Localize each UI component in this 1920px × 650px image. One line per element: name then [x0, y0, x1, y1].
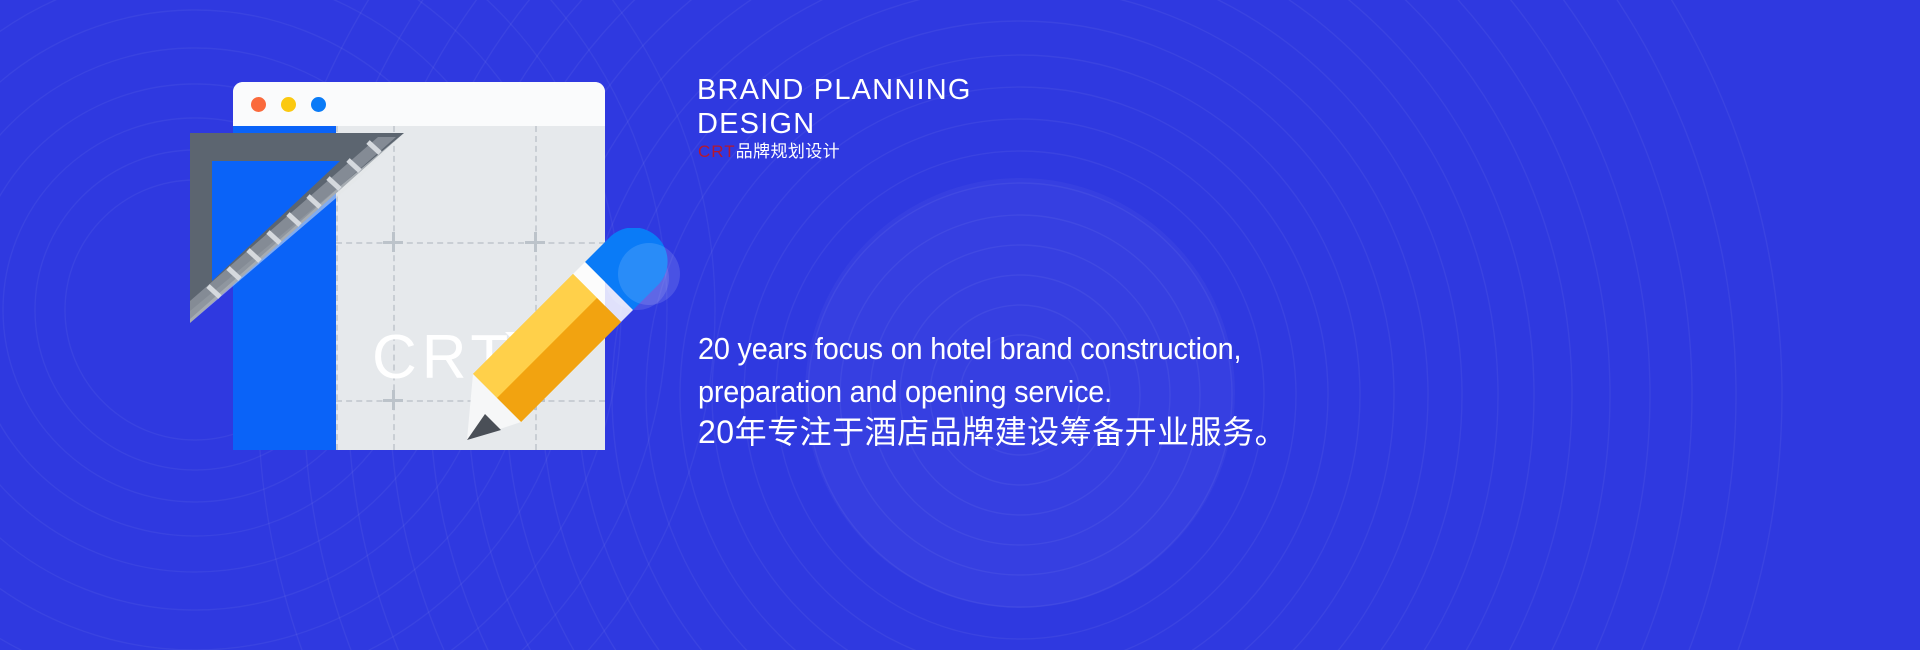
window-close-dot-icon[interactable]	[251, 97, 266, 112]
brand-design-illustration: CRT	[0, 0, 700, 650]
window-maximize-dot-icon[interactable]	[311, 97, 326, 112]
page-title: BRAND PLANNING DESIGN	[697, 74, 972, 141]
brand-banner: CRT	[0, 0, 1920, 650]
subtitle-brand: CRT	[698, 142, 736, 161]
tagline-english: 20 years focus on hotel brand constructi…	[698, 328, 1241, 414]
window-title-bar	[233, 82, 605, 126]
banner-text-block: BRAND PLANNING DESIGN CRT品牌规划设计 20 years…	[697, 0, 1920, 650]
pencil-cap-glow	[618, 243, 680, 305]
subtitle-chinese: 品牌规划设计	[736, 142, 840, 161]
grid-crosshair	[383, 390, 403, 410]
tagline-chinese: 20年专注于酒店品牌建设筹备开业服务。	[698, 412, 1287, 454]
subtitle: CRT品牌规划设计	[698, 140, 840, 164]
triangle-ruler-icon	[190, 133, 450, 333]
window-minimize-dot-icon[interactable]	[281, 97, 296, 112]
